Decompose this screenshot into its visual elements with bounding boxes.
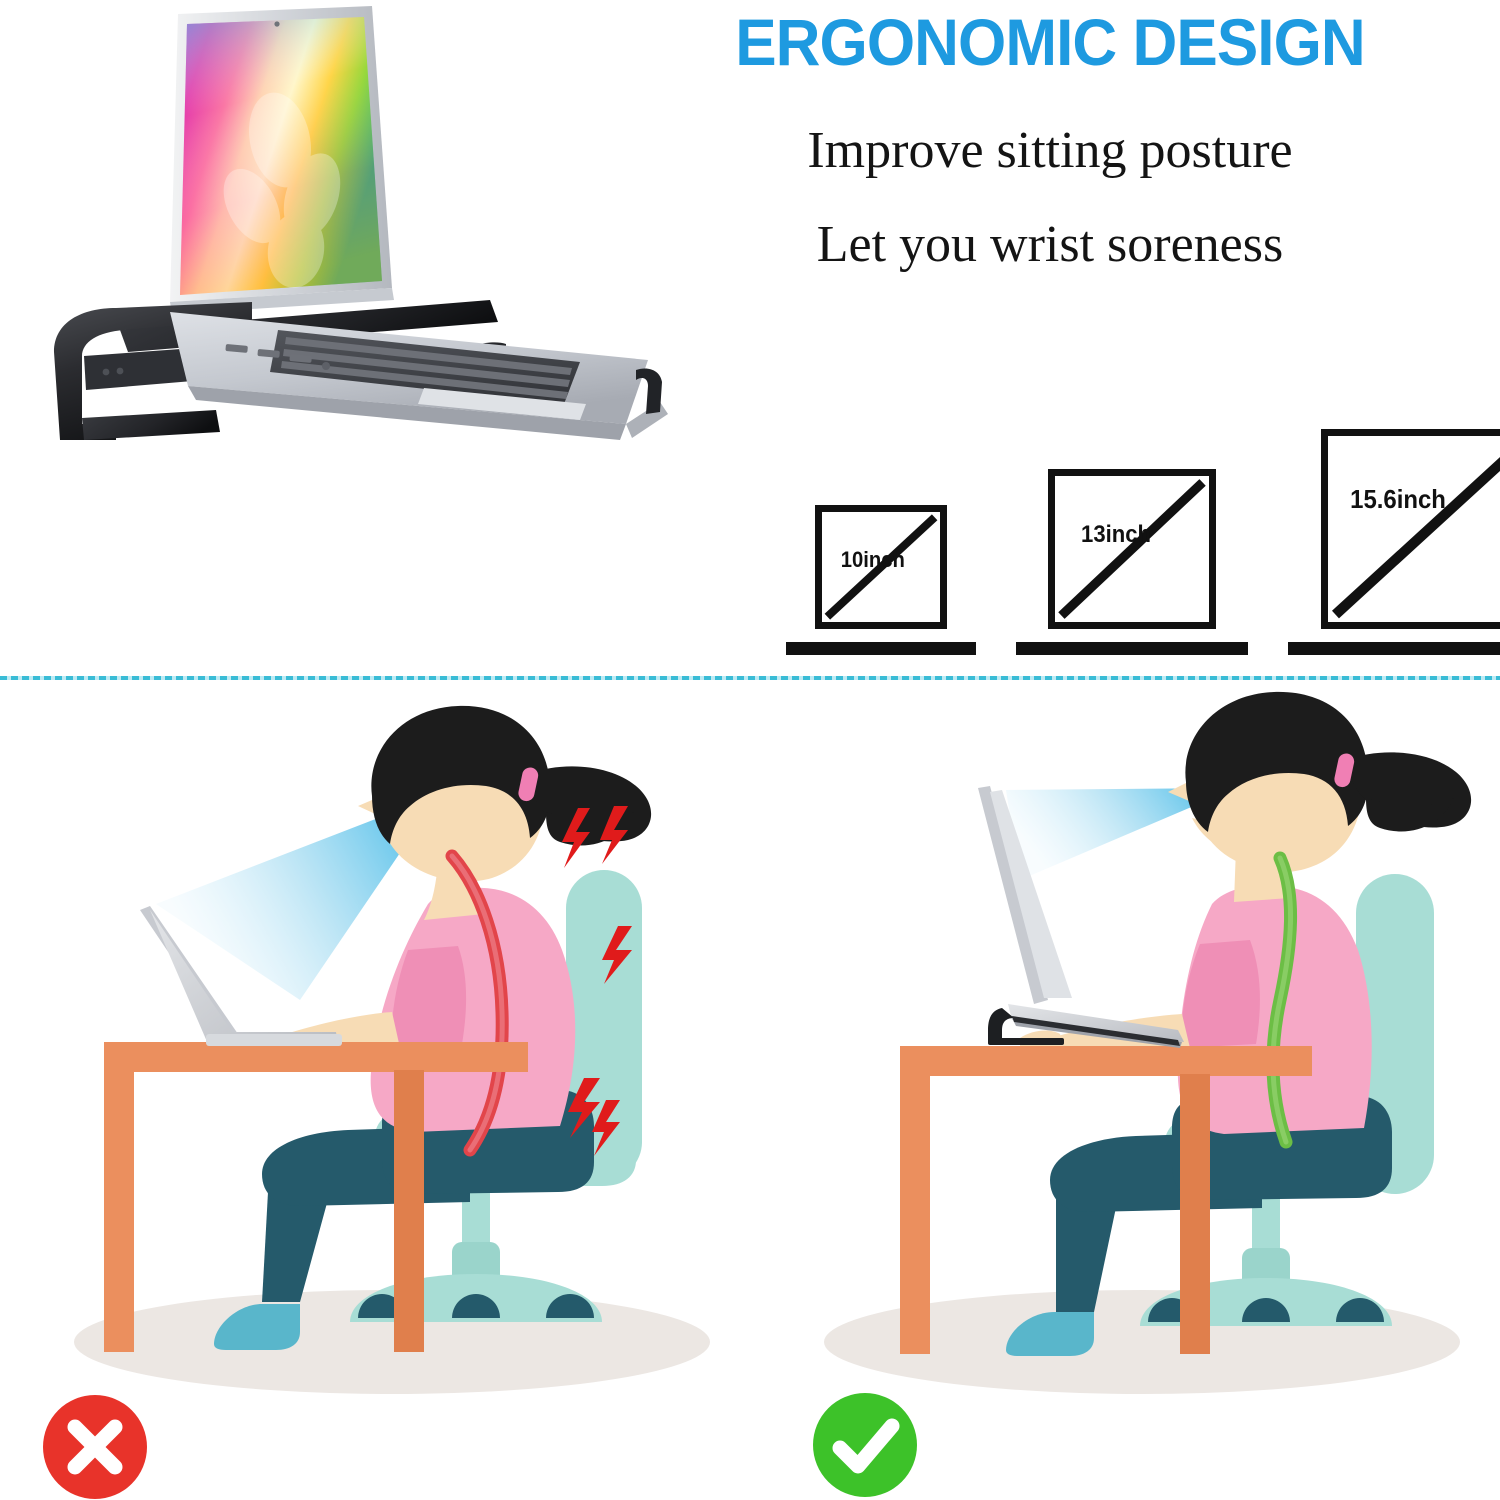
- size-label-10inch: 10inch: [841, 547, 905, 573]
- size-diagram-13inch: 13inch: [1016, 460, 1248, 655]
- laptop-size-diagrams: 10inch 13inch 15.6inch: [770, 440, 1470, 655]
- size-diagram-15inch: 15.6inch: [1288, 433, 1500, 655]
- correct-posture-illustration: [750, 682, 1500, 1407]
- correct-badge-green-check: [812, 1392, 918, 1498]
- scene-incorrect-posture: [0, 682, 750, 1407]
- comparison-panel: [0, 682, 1500, 1407]
- headline-block: ERGONOMIC DESIGN Improve sitting posture…: [600, 8, 1500, 328]
- close-icon: [42, 1394, 148, 1500]
- section-divider: [0, 676, 1500, 680]
- incorrect-posture-illustration: [0, 682, 750, 1407]
- product-photo-laptop-stand: [20, 0, 700, 470]
- top-panel: ERGONOMIC DESIGN Improve sitting posture…: [0, 0, 1500, 678]
- scene-correct-posture: [750, 682, 1500, 1407]
- page-title: ERGONOMIC DESIGN: [627, 8, 1473, 77]
- subheading-line-2: Let you wrist soreness: [600, 219, 1500, 271]
- incorrect-badge-red-x: [42, 1394, 148, 1500]
- product-photo-svg: [20, 0, 700, 470]
- size-label-15inch: 15.6inch: [1350, 484, 1446, 515]
- diagonal-line-icon: [1055, 476, 1209, 622]
- size-diagram-10inch: 10inch: [786, 485, 976, 655]
- diagonal-line-icon: [1328, 436, 1500, 622]
- subheading-line-1: Improve sitting posture: [600, 125, 1500, 177]
- size-label-13inch: 13inch: [1081, 521, 1151, 549]
- infographic-page: ERGONOMIC DESIGN Improve sitting posture…: [0, 0, 1500, 1407]
- check-icon: [812, 1392, 918, 1498]
